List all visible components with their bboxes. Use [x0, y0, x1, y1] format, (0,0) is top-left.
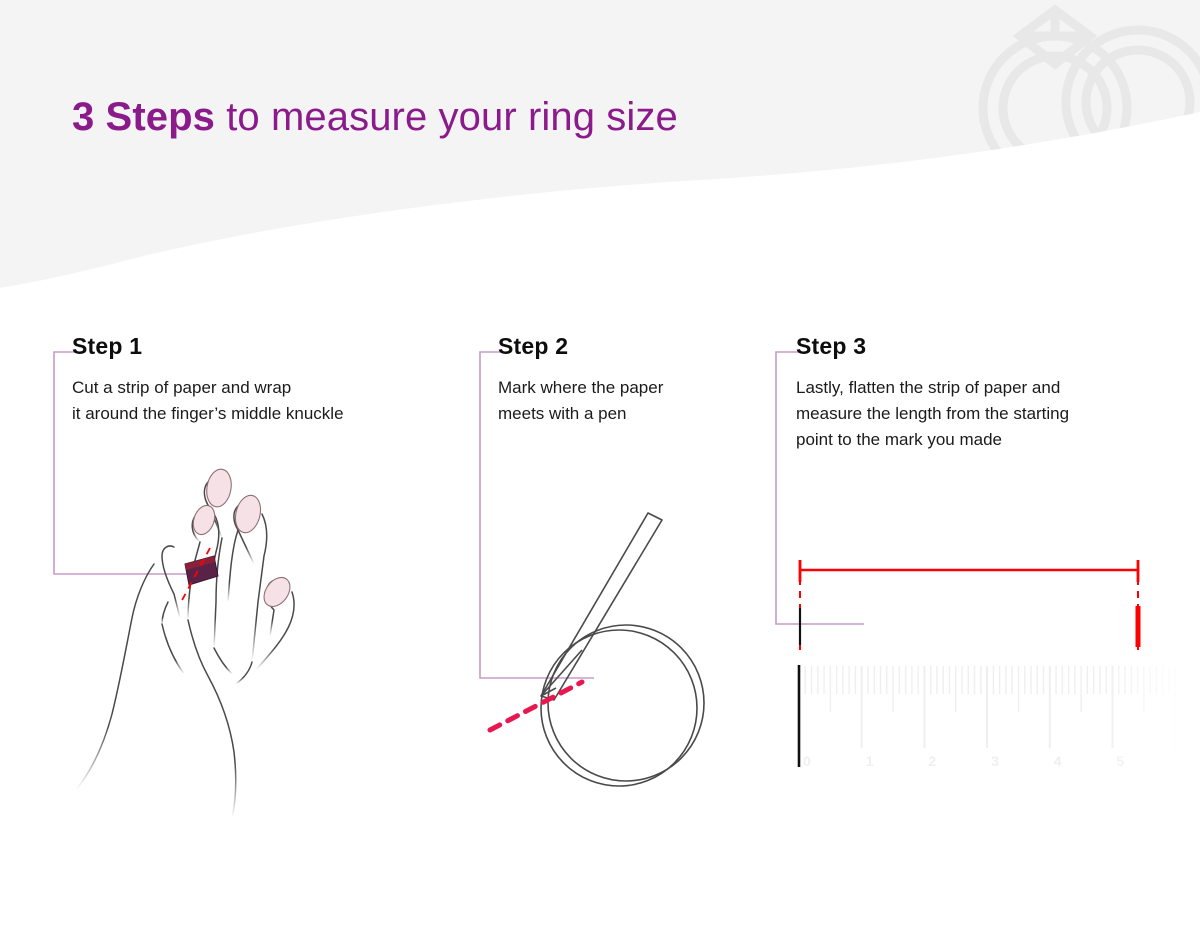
paper-loop-outer: [548, 625, 704, 781]
page-title-strong: 3 Steps: [72, 95, 215, 139]
ruler-tick-label: 3: [991, 753, 999, 769]
nail-thumb: [259, 573, 296, 612]
wedding-rings-icon: [983, 10, 1200, 180]
step-3-body: Lastly, flatten the strip of paper and m…: [796, 375, 1168, 453]
flattened-strip-with-ruler-illustration: 0123456: [790, 550, 1190, 790]
header-band-shape: [0, 0, 1200, 300]
hand-with-paper-strip-illustration: [62, 452, 402, 822]
ruler-tick-label: 4: [1054, 753, 1062, 769]
step-2-body: Mark where the paper meets with a pen: [498, 375, 778, 427]
step-2-heading: Step 2: [498, 334, 778, 359]
step-1-body: Cut a strip of paper and wrap it around …: [72, 375, 472, 427]
page-title: 3 Steps to measure your ring size: [72, 95, 678, 139]
paper-tail: [541, 513, 662, 700]
ruler-tick-label: 6: [1179, 753, 1187, 769]
step-2-column: Step 2 Mark where the paper meets with a…: [498, 334, 778, 427]
step-1-column: Step 1 Cut a strip of paper and wrap it …: [72, 334, 472, 427]
ruler-tick-label: 5: [1117, 753, 1125, 769]
nail-middle: [204, 467, 234, 509]
step-3-column: Step 3 Lastly, flatten the strip of pape…: [796, 334, 1168, 453]
rolled-paper-strip-with-pen-mark-illustration: [486, 498, 746, 798]
paper-loop-inner: [541, 630, 697, 786]
wrapped-paper-strip: [185, 556, 218, 585]
ruler-tick-label: 0: [803, 753, 811, 769]
ruler-tick-label: 1: [866, 753, 874, 769]
header-wave-fill: [0, 0, 1200, 288]
ruler-scale: 0123456: [799, 665, 1187, 769]
step-3-heading: Step 3: [796, 334, 1168, 359]
page-title-rest: to measure your ring size: [215, 95, 678, 139]
flattened-paper-strip: [800, 606, 1182, 647]
step-1-heading: Step 1: [72, 334, 472, 359]
ruler-tick-label: 2: [928, 753, 936, 769]
pen-mark-dashed-line: [490, 682, 582, 730]
header-band: [0, 0, 1200, 300]
